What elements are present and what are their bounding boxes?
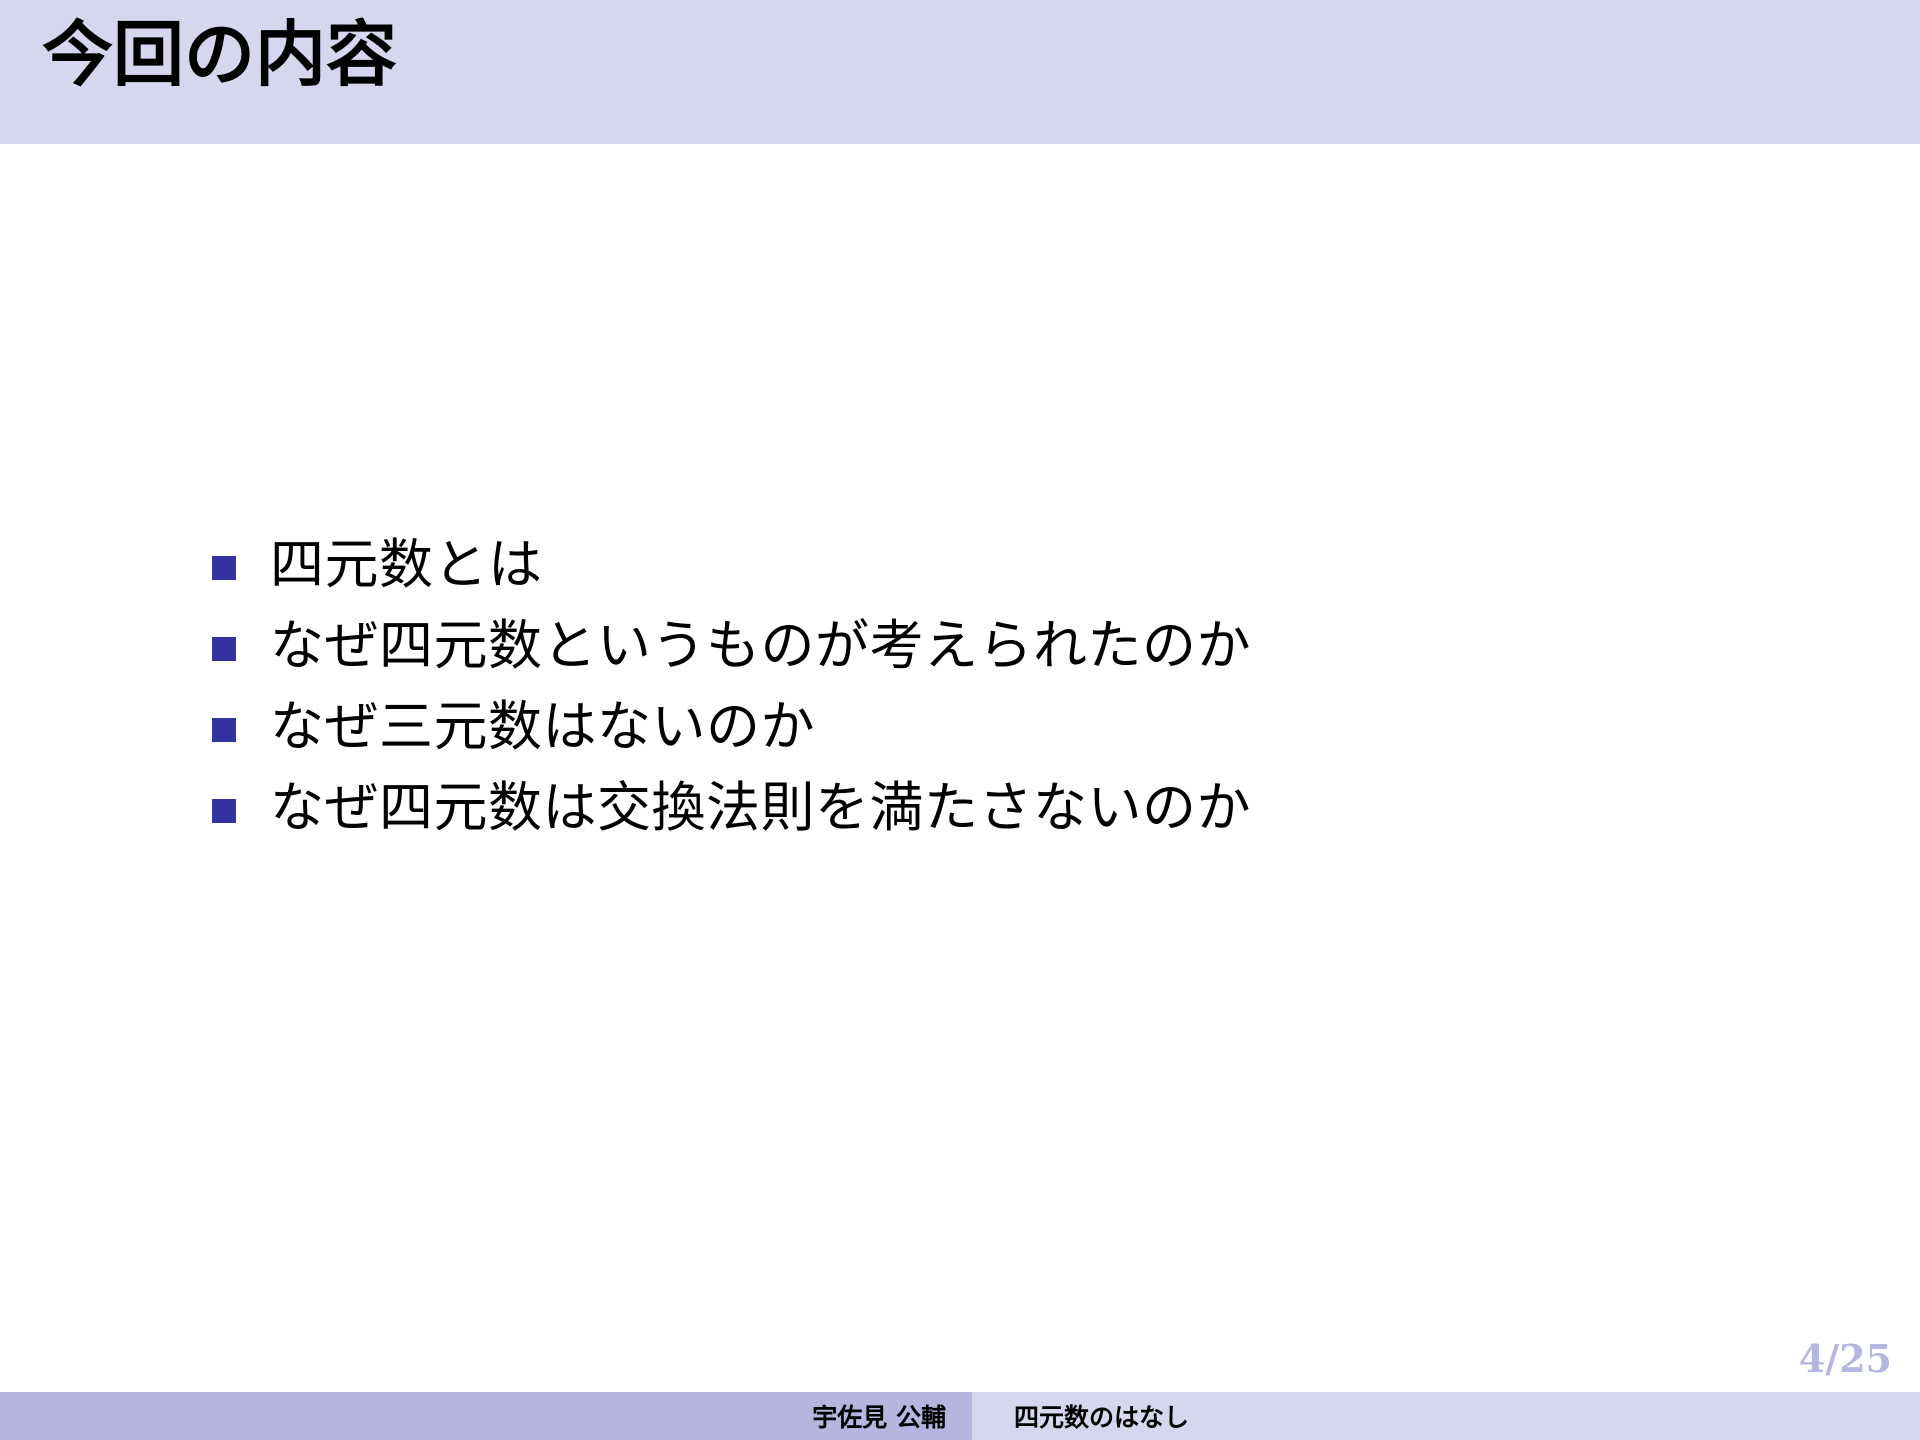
list-item-label: なぜ四元数は交換法則を満たさないのか <box>270 777 1251 839</box>
slide-footer: 宇佐見 公輔 四元数のはなし <box>0 1392 1920 1440</box>
footer-author-section: 宇佐見 公輔 <box>0 1392 972 1440</box>
footer-author-label: 宇佐見 公輔 <box>812 1398 946 1434</box>
list-item-label: 四元数とは <box>270 534 543 596</box>
presentation-slide: 今回の内容 四元数とは なぜ四元数というものが考えられたのか なぜ三元数はないの… <box>0 0 1920 1440</box>
square-bullet-icon <box>212 718 236 742</box>
list-item-label: なぜ三元数はないのか <box>270 696 815 758</box>
slide-title-bar: 今回の内容 <box>0 0 1920 144</box>
slide-title: 今回の内容 <box>42 14 397 96</box>
square-bullet-icon <box>212 799 236 823</box>
list-item: なぜ四元数は交換法則を満たさないのか <box>212 777 1712 858</box>
page-number: 4/25 <box>1799 1336 1892 1381</box>
list-item: なぜ三元数はないのか <box>212 696 1712 777</box>
footer-title-section: 四元数のはなし <box>972 1392 1920 1440</box>
square-bullet-icon <box>212 637 236 661</box>
list-item: 四元数とは <box>212 534 1712 615</box>
footer-presentation-title-label: 四元数のはなし <box>1014 1398 1189 1434</box>
bullet-list: 四元数とは なぜ四元数というものが考えられたのか なぜ三元数はないのか なぜ四元… <box>212 534 1712 858</box>
list-item: なぜ四元数というものが考えられたのか <box>212 615 1712 696</box>
slide-body: 四元数とは なぜ四元数というものが考えられたのか なぜ三元数はないのか なぜ四元… <box>0 144 1920 1376</box>
list-item-label: なぜ四元数というものが考えられたのか <box>270 615 1251 677</box>
square-bullet-icon <box>212 556 236 580</box>
